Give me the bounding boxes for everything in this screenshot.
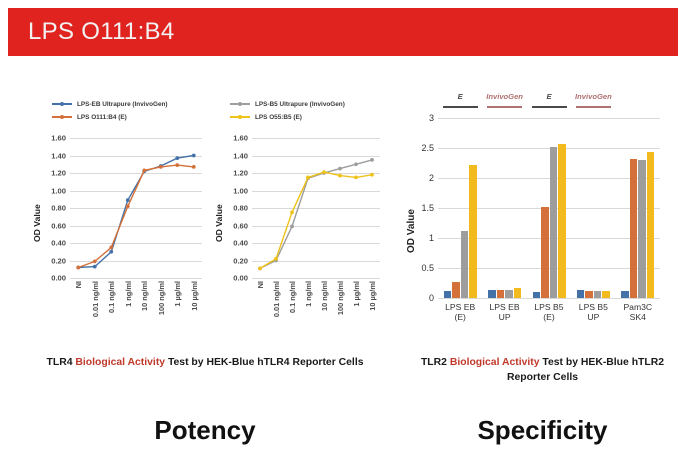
data-point — [76, 266, 80, 270]
x-axis-tick-label: LPS EB (E) — [438, 302, 482, 323]
bar — [638, 160, 646, 298]
bar — [461, 231, 469, 298]
caption-left: TLR4 Biological Activity Test by HEK-Blu… — [25, 355, 385, 370]
legend-label: LPS O55:B5 (E) — [255, 114, 302, 121]
annotation-bracket — [487, 106, 522, 108]
x-axis-tick-label: 1 ng/ml — [124, 281, 133, 307]
caption-right: TLR2 Biological Activity Test by HEK-Blu… — [410, 355, 675, 385]
bar — [630, 159, 638, 298]
data-point — [93, 259, 97, 263]
x-axis-tick-label: 10 µg/ml — [368, 281, 377, 311]
x-axis-tick-label: 0.1 ng/ml — [107, 281, 116, 313]
x-axis-tick-label: 0.01 ng/ml — [91, 281, 100, 317]
y-axis-tick-label: 1.40 — [51, 151, 66, 160]
data-point — [338, 167, 342, 171]
legend-item: LPS O111:B4 (E) — [52, 113, 168, 121]
y-axis-tick-label: 1.60 — [51, 134, 66, 143]
annotation-label: InvivoGen — [575, 92, 612, 101]
caption-right-pre: TLR2 — [421, 357, 450, 368]
caption-right-highlight: Biological Activity — [450, 357, 540, 368]
bar — [558, 144, 566, 298]
x-axis-tick-label: NI — [74, 281, 83, 288]
data-point — [126, 204, 130, 208]
data-point — [192, 165, 196, 169]
legend-label: LPS-EB Ultrapure (InvivoGen) — [77, 101, 168, 108]
y-axis-tick-label: 1.60 — [233, 134, 248, 143]
x-axis-tick-label: 100 ng/ml — [157, 281, 166, 315]
data-point — [109, 245, 113, 249]
gridline — [438, 118, 660, 119]
annotation-bracket — [443, 106, 478, 108]
bar — [585, 291, 593, 298]
bar — [444, 291, 452, 298]
data-point — [274, 257, 278, 261]
y-axis-tick-label: 0.40 — [233, 239, 248, 248]
x-axis-tick-label: 10 ng/ml — [320, 281, 329, 311]
gridline — [70, 278, 202, 279]
bar — [594, 291, 602, 298]
bar — [452, 282, 460, 298]
y-axis-tick-label: 0.20 — [51, 256, 66, 265]
legend-label: LPS O111:B4 (E) — [77, 114, 127, 121]
data-point — [354, 162, 358, 166]
series-layer — [70, 138, 202, 278]
bar — [497, 290, 505, 298]
x-axis-tick-label: LPS B5 UP — [571, 302, 615, 323]
caption-left-post: Test by HEK-Blue hTLR4 Reporter Cells — [165, 357, 363, 368]
bar — [647, 152, 655, 298]
annotation-label: E — [546, 92, 551, 101]
legend-marker-line-icon — [52, 100, 72, 108]
legend-item: LPS-B5 Ultrapure (InvivoGen) — [230, 100, 345, 108]
series-line — [78, 165, 194, 267]
axis-label-y: OD Value — [32, 204, 42, 242]
data-point — [175, 156, 179, 160]
bar — [505, 290, 513, 298]
x-axis-tick-label: Pam3C SK4 — [616, 302, 660, 323]
x-axis-tick-label: 1 µg/ml — [173, 281, 182, 307]
series-line — [78, 156, 194, 268]
chart-panel-tlr4-b5: LPS-B5 Ultrapure (InvivoGen) LPS O55:B5 … — [212, 100, 402, 310]
bar — [621, 291, 629, 298]
data-point — [306, 175, 310, 179]
series-line — [260, 172, 372, 268]
legend-marker-line-icon — [52, 113, 72, 121]
y-axis-tick-label: 0.60 — [51, 221, 66, 230]
x-axis-tick-label: 100 ng/ml — [336, 281, 345, 315]
legend-marker-line-icon — [230, 113, 250, 121]
data-point — [126, 198, 130, 202]
y-axis-tick-label: 1.20 — [51, 169, 66, 178]
y-axis-tick-label: 0 — [429, 293, 434, 303]
y-axis-tick-label: 0.00 — [233, 274, 248, 283]
annotation-label: E — [458, 92, 463, 101]
data-point — [175, 163, 179, 167]
y-axis-tick-label: 1.00 — [51, 186, 66, 195]
data-point — [322, 170, 326, 174]
axis-label-y: OD Value — [406, 209, 417, 253]
legend-item: LPS O55:B5 (E) — [230, 113, 345, 121]
y-axis-tick-label: 1.00 — [233, 186, 248, 195]
bigword-specificity: Specificity — [410, 415, 675, 446]
data-point — [290, 210, 294, 214]
x-axis-tick-label: 1 µg/ml — [352, 281, 361, 307]
data-point — [354, 175, 358, 179]
chart-panel-tlr4-eb: LPS-EB Ultrapure (InvivoGen) LPS O111:B4… — [30, 100, 220, 310]
y-axis-tick-label: 0.5 — [421, 263, 434, 273]
bar — [488, 290, 496, 298]
data-point — [142, 168, 146, 172]
bar — [514, 288, 522, 298]
data-point — [258, 266, 262, 270]
legend-chart2: LPS-B5 Ultrapure (InvivoGen) LPS O55:B5 … — [230, 100, 345, 126]
annotation-bracket — [532, 106, 567, 108]
y-axis-tick-label: 2.5 — [421, 143, 434, 153]
bar — [541, 207, 549, 298]
x-axis-tick-label: 10 ng/ml — [140, 281, 149, 311]
plot-area: 0.000.200.400.600.801.001.201.401.60NI0.… — [252, 138, 380, 278]
y-axis-tick-label: 0.20 — [233, 256, 248, 265]
legend-marker-line-icon — [230, 100, 250, 108]
data-point — [290, 224, 294, 228]
gridline — [252, 278, 380, 279]
y-axis-tick-label: 0.60 — [233, 221, 248, 230]
y-axis-tick-label: 0.80 — [233, 204, 248, 213]
data-point — [93, 265, 97, 269]
bar — [602, 291, 610, 298]
x-axis-tick-label: 0.01 ng/ml — [272, 281, 281, 317]
y-axis-tick-label: 2 — [429, 173, 434, 183]
caption-left-pre: TLR4 — [47, 357, 76, 368]
x-axis-tick-label: 1 ng/ml — [304, 281, 313, 307]
x-axis-tick-label: NI — [256, 281, 265, 288]
y-axis-tick-label: 0.40 — [51, 239, 66, 248]
x-axis-tick-label: 10 µg/ml — [190, 281, 199, 311]
axis-label-y: OD Value — [214, 204, 224, 242]
bar — [469, 165, 477, 298]
y-axis-tick-label: 1.20 — [233, 169, 248, 178]
x-axis-tick-label: 0.1 ng/ml — [288, 281, 297, 313]
legend-label: LPS-B5 Ultrapure (InvivoGen) — [255, 101, 345, 108]
x-axis-tick-label: LPS B5 (E) — [527, 302, 571, 323]
legend-chart1: LPS-EB Ultrapure (InvivoGen) LPS O111:B4… — [52, 100, 168, 126]
y-axis-tick-label: 1 — [429, 233, 434, 243]
data-point — [192, 154, 196, 158]
plot-area: 0.000.200.400.600.801.001.201.401.60NI0.… — [70, 138, 202, 278]
legend-item: LPS-EB Ultrapure (InvivoGen) — [52, 100, 168, 108]
y-axis-tick-label: 3 — [429, 113, 434, 123]
annotation-bracket — [576, 106, 611, 108]
y-axis-tick-label: 1.40 — [233, 151, 248, 160]
slide-root: LPS O111:B4 LPS-EB Ultrapure (InvivoGen)… — [0, 0, 700, 463]
bar — [533, 292, 541, 298]
chart-panel-tlr2: OD Value 00.511.522.53LPS EB (E)LPS EB U… — [406, 78, 678, 313]
y-axis-tick-label: 1.5 — [421, 203, 434, 213]
caption-left-highlight: Biological Activity — [75, 357, 165, 368]
bar — [577, 290, 585, 298]
bar — [550, 147, 558, 298]
page-title: LPS O111:B4 — [28, 18, 175, 46]
data-point — [338, 174, 342, 178]
data-point — [370, 158, 374, 162]
x-axis-tick-label: LPS EB UP — [482, 302, 526, 323]
annotation-label: InvivoGen — [486, 92, 523, 101]
series-layer — [252, 138, 380, 278]
plot-area: 00.511.522.53LPS EB (E)LPS EB UPLPS B5 (… — [438, 118, 660, 298]
data-point — [159, 165, 163, 169]
data-point — [109, 250, 113, 254]
bigword-potency: Potency — [25, 415, 385, 446]
header-banner: LPS O111:B4 — [8, 8, 678, 56]
y-axis-tick-label: 0.80 — [51, 204, 66, 213]
gridline — [438, 298, 660, 299]
data-point — [370, 173, 374, 177]
y-axis-tick-label: 0.00 — [51, 274, 66, 283]
